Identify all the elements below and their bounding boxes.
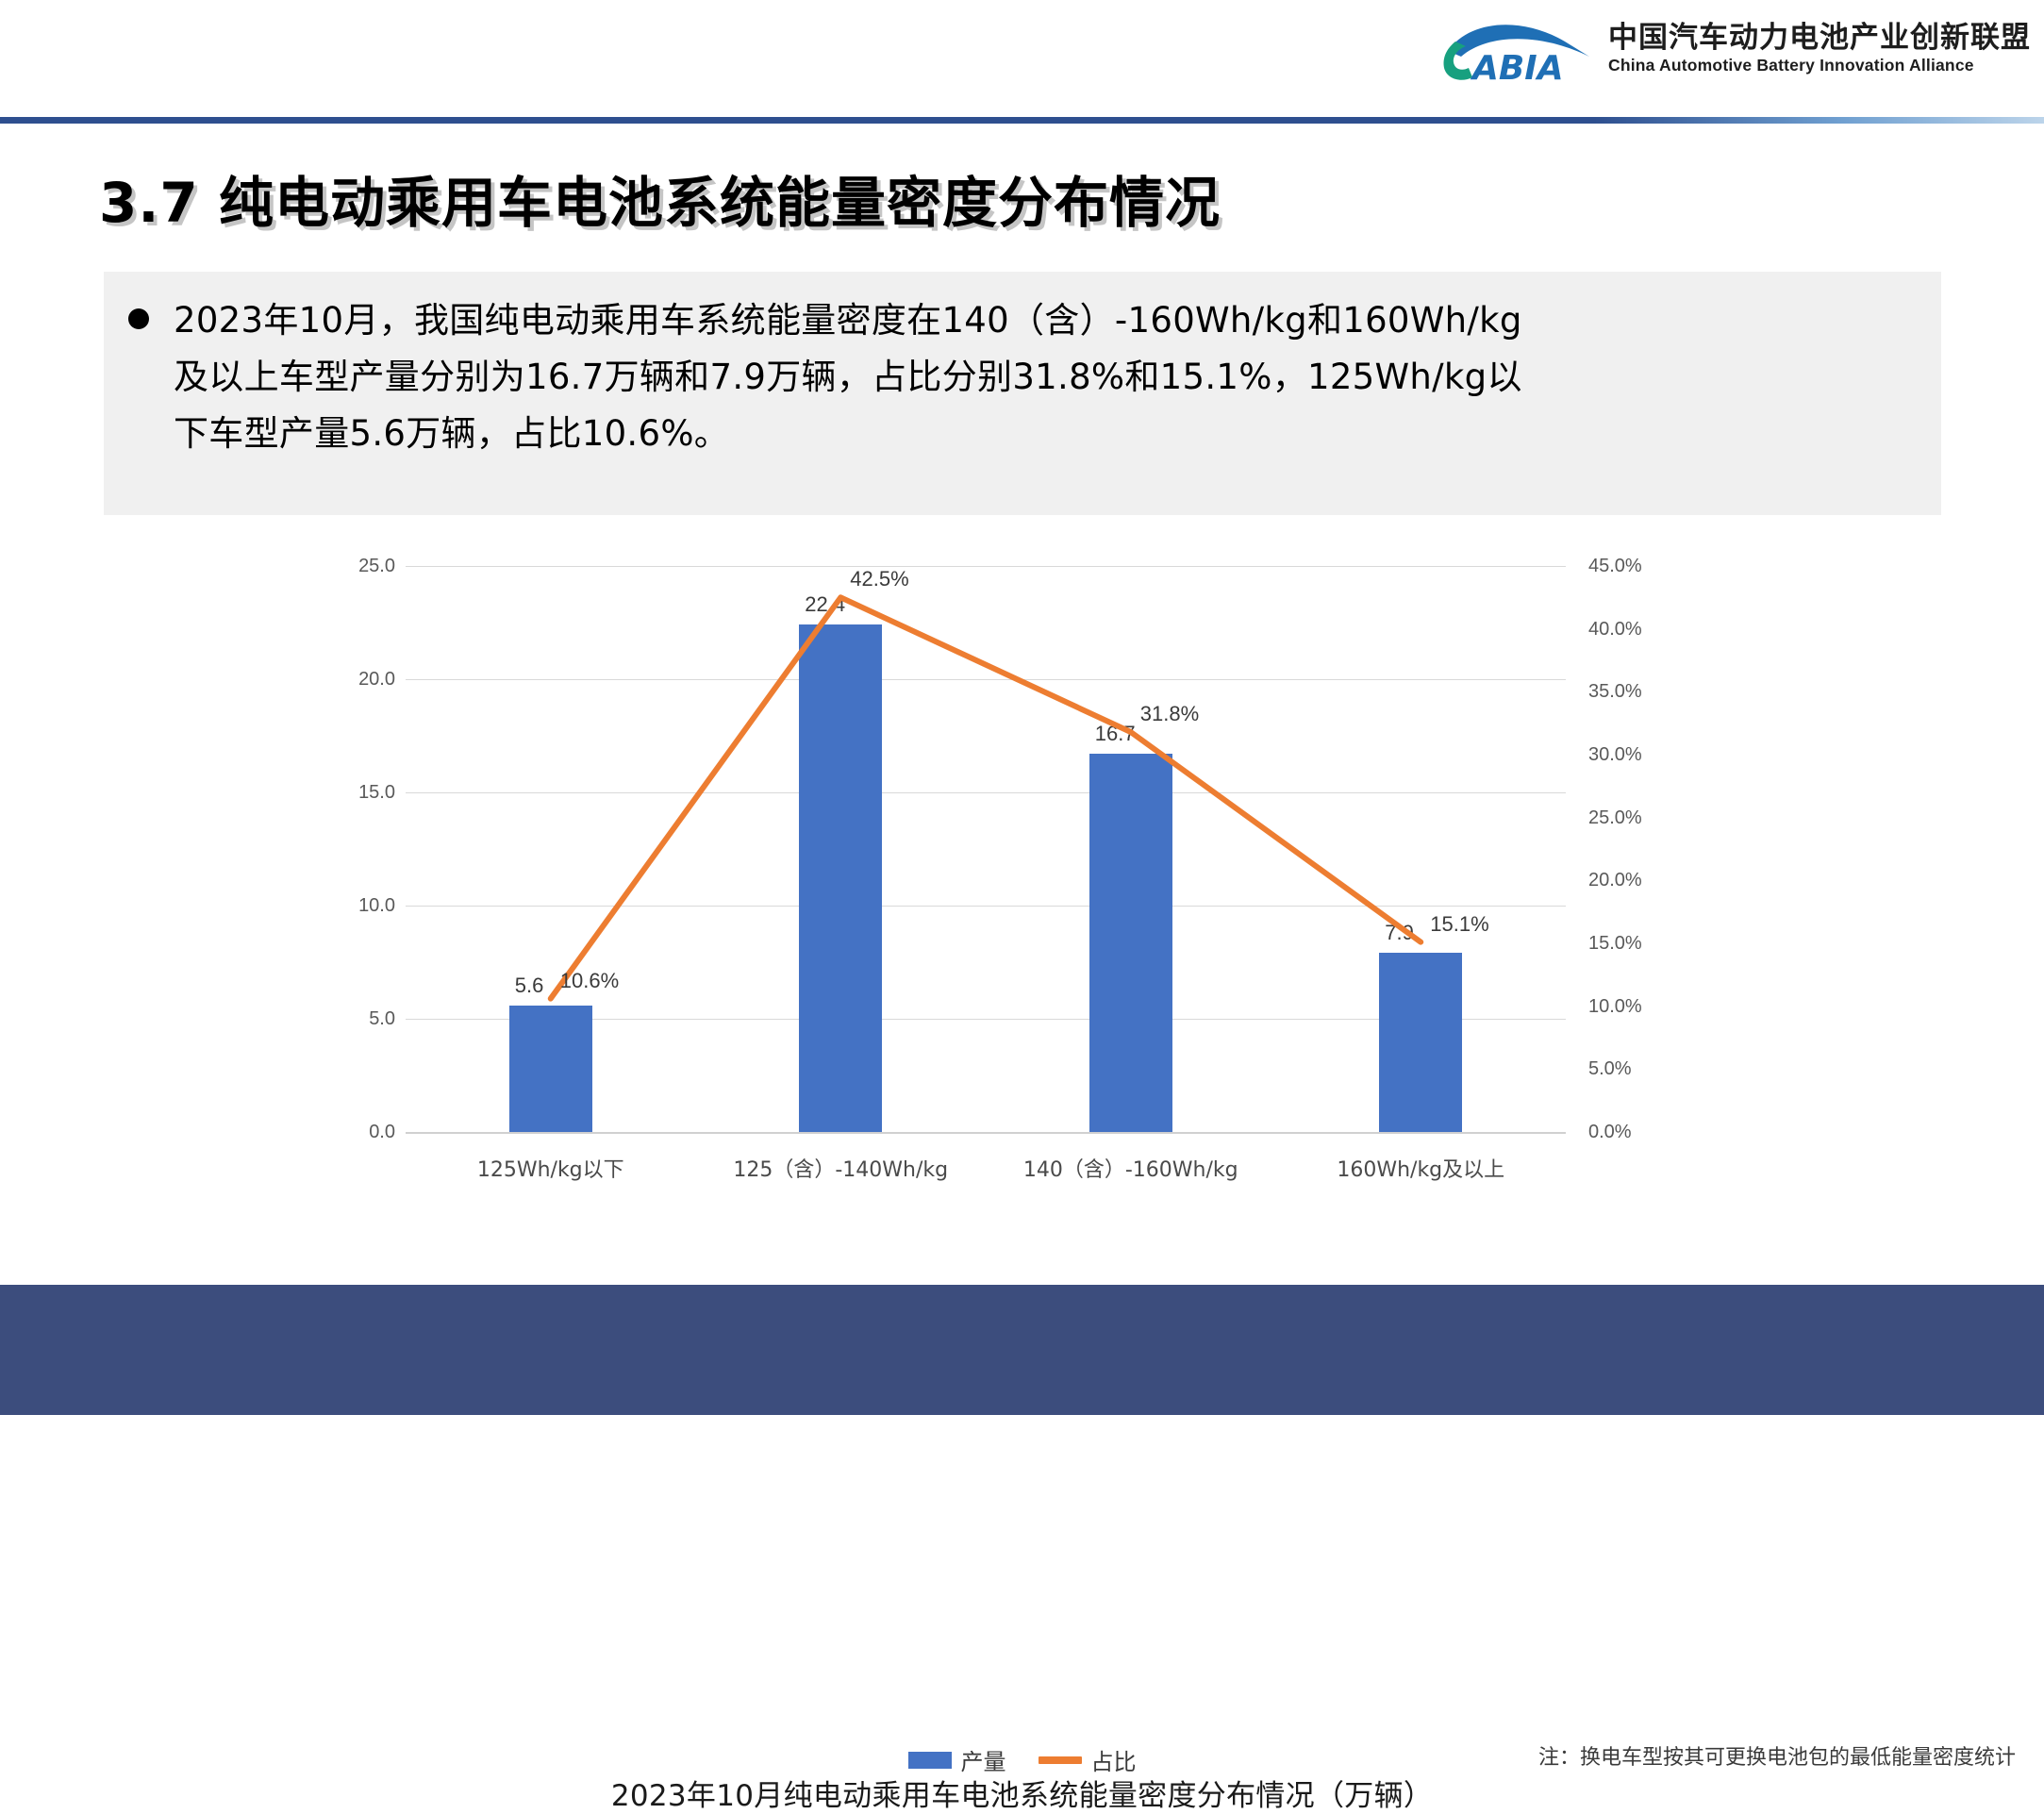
gridline — [406, 679, 1566, 680]
page-header: ABIA 中国汽车动力电池产业创新联盟 China Automotive Bat… — [0, 0, 2044, 117]
y-axis-tick-left: 5.0 — [310, 1008, 395, 1030]
y-axis-tick-right: 35.0% — [1588, 681, 1692, 703]
brand-text: 中国汽车动力电池产业创新联盟 China Automotive Battery … — [1608, 23, 2031, 76]
summary-bullet: 2023年10月，我国纯电动乘用车系统能量密度在140（含）-160Wh/kg和… — [121, 292, 1924, 462]
x-axis-tick-label: 140（含）-160Wh/kg — [1023, 1153, 1238, 1183]
bar[interactable] — [509, 1006, 592, 1132]
bar-value-label: 7.9 — [1385, 921, 1414, 945]
y-axis-tick-left: 15.0 — [310, 782, 395, 804]
y-axis-tick-left: 0.0 — [310, 1122, 395, 1143]
summary-line-2: 及以上车型产量分别为16.7万辆和7.9万辆，占比分别31.8%和15.1%，1… — [174, 349, 1522, 406]
chart-caption: 2023年10月纯电动乘用车电池系统能量密度分布情况（万辆） — [0, 1772, 2044, 1814]
x-axis-tick-label: 125Wh/kg以下 — [477, 1153, 624, 1183]
y-axis-tick-right: 25.0% — [1588, 807, 1692, 829]
page-title: 3.7 纯电动乘用车电池系统能量密度分布情况 — [99, 158, 1221, 238]
y-axis-tick-left: 25.0 — [310, 556, 395, 577]
y-axis-tick-right: 5.0% — [1588, 1058, 1692, 1080]
legend-bar-swatch-icon — [908, 1752, 952, 1769]
summary-line-3: 下车型产量5.6万辆，占比10.6%。 — [174, 406, 1522, 462]
chart-container: 0.05.010.015.020.025.00.0%5.0%10.0%15.0%… — [0, 528, 2044, 1283]
y-axis-tick-right: 45.0% — [1588, 556, 1692, 577]
y-axis-tick-left: 20.0 — [310, 669, 395, 691]
line-value-label: 10.6% — [560, 969, 619, 993]
chart-note: 注：换电车型按其可更换电池包的最低能量密度统计 — [1538, 1740, 2016, 1771]
y-axis-tick-right: 10.0% — [1588, 996, 1692, 1018]
gridline — [406, 792, 1566, 793]
bar-value-label: 22.4 — [805, 592, 845, 617]
legend-line-swatch-icon — [1039, 1756, 1082, 1764]
org-name-en: China Automotive Battery Innovation Alli… — [1608, 56, 2031, 75]
line-value-label: 31.8% — [1140, 702, 1199, 726]
summary-panel: 2023年10月，我国纯电动乘用车系统能量密度在140（含）-160Wh/kg和… — [104, 272, 1941, 515]
footer-bar — [0, 1285, 2044, 1415]
brand-lockup: ABIA 中国汽车动力电池产业创新联盟 China Automotive Bat… — [1423, 13, 2031, 85]
x-axis-tick-label: 160Wh/kg及以上 — [1337, 1153, 1504, 1183]
summary-line-1: 2023年10月，我国纯电动乘用车系统能量密度在140（含）-160Wh/kg和… — [174, 292, 1522, 349]
cabia-car-arc-logo-icon: ABIA — [1423, 13, 1593, 85]
x-axis-tick-label: 125（含）-140Wh/kg — [733, 1153, 948, 1183]
bar[interactable] — [1379, 953, 1462, 1132]
bar-value-label: 5.6 — [515, 974, 544, 998]
org-name-cn: 中国汽车动力电池产业创新联盟 — [1608, 23, 2031, 54]
y-axis-tick-right: 30.0% — [1588, 744, 1692, 766]
gridline — [406, 906, 1566, 907]
gridline — [406, 1132, 1566, 1134]
bar[interactable] — [1089, 754, 1172, 1132]
line-value-label: 42.5% — [850, 567, 908, 591]
bullet-dot-icon — [128, 308, 149, 329]
summary-text: 2023年10月，我国纯电动乘用车系统能量密度在140（含）-160Wh/kg和… — [174, 292, 1522, 462]
y-axis-tick-left: 10.0 — [310, 895, 395, 917]
svg-text:ABIA: ABIA — [1470, 49, 1564, 85]
y-axis-tick-right: 20.0% — [1588, 870, 1692, 891]
bar-value-label: 16.7 — [1095, 722, 1136, 746]
gridline — [406, 566, 1566, 567]
header-divider — [0, 117, 2044, 124]
y-axis-tick-right: 15.0% — [1588, 933, 1692, 955]
y-axis-tick-right: 0.0% — [1588, 1122, 1692, 1143]
line-value-label: 15.1% — [1430, 912, 1488, 937]
y-axis-tick-right: 40.0% — [1588, 619, 1692, 641]
bar[interactable] — [799, 624, 882, 1132]
